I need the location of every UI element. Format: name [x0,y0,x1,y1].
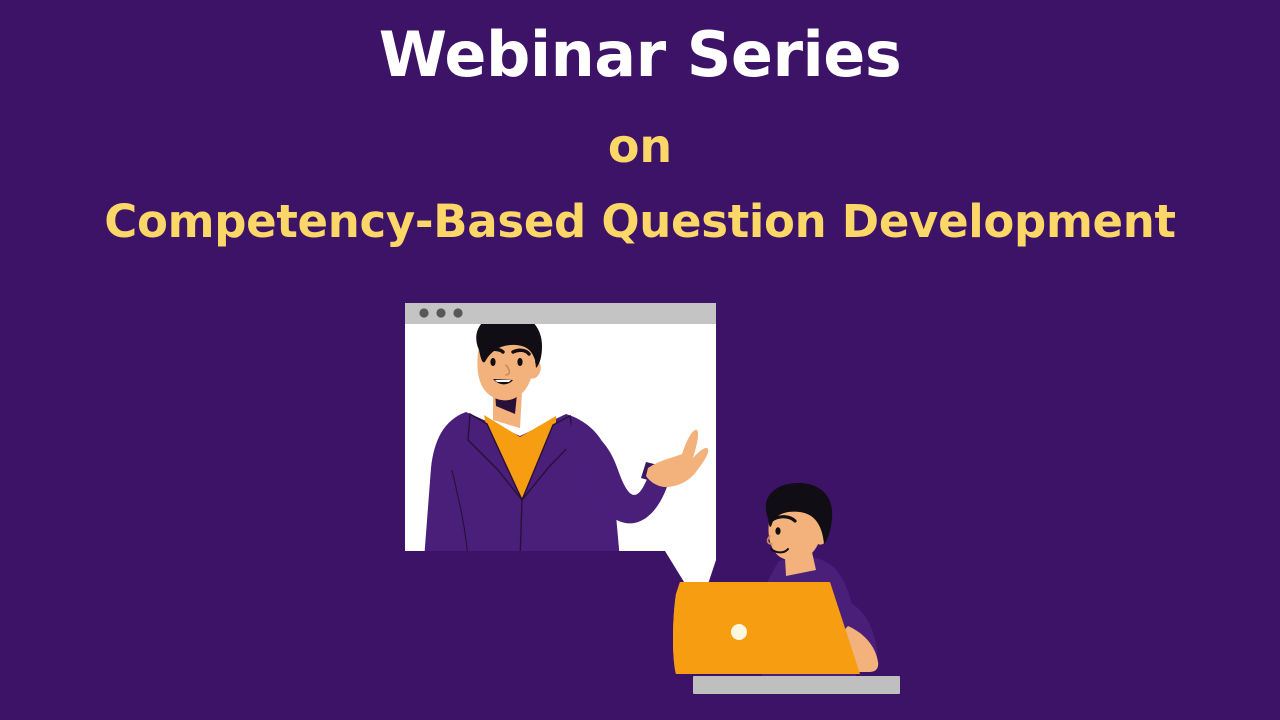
online-webinar-illustration [0,0,1280,720]
presenter-teeth [495,380,511,382]
browser-dot-maximize-icon[interactable] [453,308,462,317]
presenter-eye-left [490,358,495,366]
laptop-screen [673,582,860,674]
webinar-banner: Webinar Series on Competency-Based Quest… [0,0,1280,720]
browser-titlebar [405,303,716,324]
browser-dot-close-icon[interactable] [419,308,428,317]
browser-dot-minimize-icon[interactable] [436,308,445,317]
viewer-eye [775,527,780,535]
laptop-logo-icon [731,624,747,640]
presenter-eye-right [517,358,522,366]
laptop-base [693,676,900,694]
